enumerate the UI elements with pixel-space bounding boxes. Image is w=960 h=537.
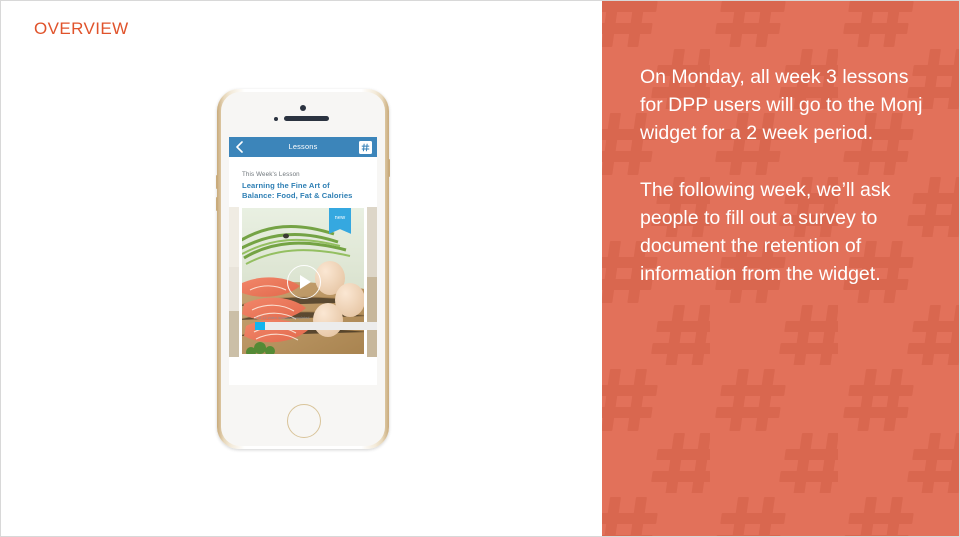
phone-screen: Lessons xyxy=(229,137,377,385)
lesson-title: Learning the Fine Art of Balance: Food, … xyxy=(242,181,364,202)
phone-mockup: Lessons xyxy=(217,89,389,449)
play-circle-icon[interactable] xyxy=(287,265,321,299)
lesson-card[interactable]: This Week's Lesson Learning the Fine Art… xyxy=(242,157,364,354)
left-panel: OVERVIEW Lessons xyxy=(1,1,602,537)
camera-icon xyxy=(300,105,306,111)
app-nav-bar: Lessons xyxy=(229,137,377,157)
lessons-carousel: This Week's Lesson Learning the Fine Art… xyxy=(229,157,377,385)
power-button[interactable] xyxy=(388,159,390,177)
progress-label: 1 of 12 video lessons completed xyxy=(255,316,377,320)
page-title: OVERVIEW xyxy=(34,19,129,39)
overview-paragraph-2: The following week, we’ll ask people to … xyxy=(640,176,930,289)
slide: OVERVIEW Lessons xyxy=(0,0,960,537)
sensor-icon xyxy=(274,117,278,121)
progress-fill xyxy=(255,322,265,330)
lesson-video-thumbnail[interactable]: new xyxy=(242,208,364,354)
volume-up-button[interactable] xyxy=(216,175,218,189)
new-badge-label: new xyxy=(335,215,346,221)
overview-paragraph-1: On Monday, all week 3 lessons for DPP us… xyxy=(640,63,930,148)
prev-card-thumb xyxy=(229,207,239,357)
play-triangle-icon xyxy=(300,275,311,289)
lesson-kicker: This Week's Lesson xyxy=(242,171,364,178)
home-button[interactable] xyxy=(287,404,321,438)
carousel-prev-card[interactable] xyxy=(229,207,239,357)
carousel-next-card[interactable] xyxy=(367,207,377,357)
volume-down-button[interactable] xyxy=(216,197,218,211)
nav-title: Lessons xyxy=(229,142,377,151)
hash-icon[interactable] xyxy=(359,141,372,154)
hash-glyph xyxy=(361,143,370,152)
progress-track xyxy=(255,322,377,330)
next-card-thumb xyxy=(367,207,377,357)
lesson-progress: 1 of 12 video lessons completed xyxy=(255,316,377,330)
right-panel: On Monday, all week 3 lessons for DPP us… xyxy=(602,1,960,537)
overview-copy: On Monday, all week 3 lessons for DPP us… xyxy=(640,63,930,288)
speaker-grille-icon xyxy=(284,116,329,121)
